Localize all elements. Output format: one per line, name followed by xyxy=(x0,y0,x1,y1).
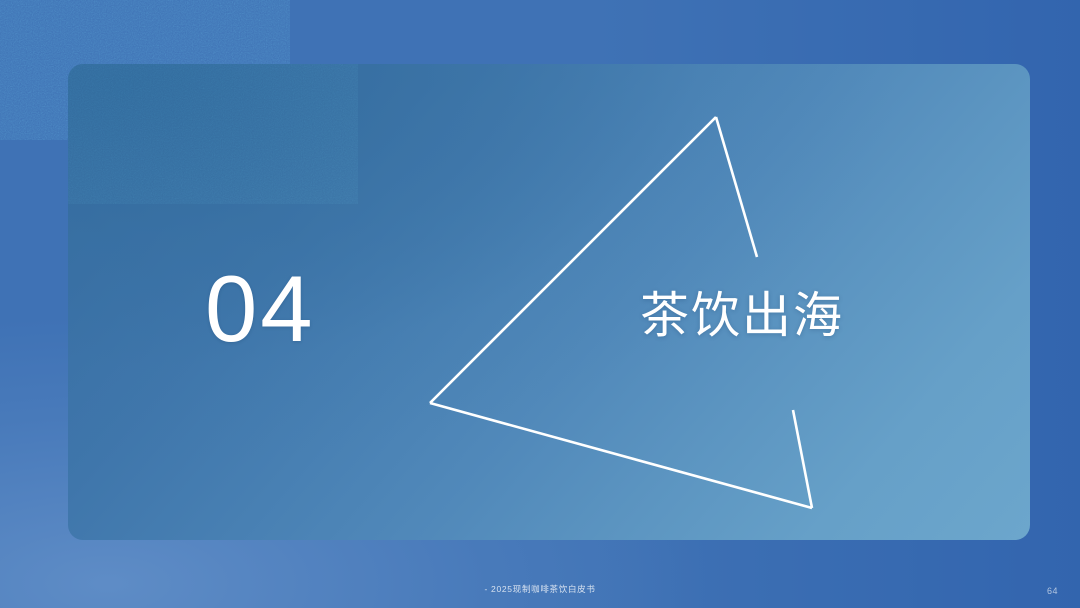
page-number: 64 xyxy=(1047,586,1058,596)
presentation-slide: 04 茶饮出海 - 2025现制咖啡茶饮白皮书 64 xyxy=(0,0,1080,608)
footer-source-note: - 2025现制咖啡茶饮白皮书 xyxy=(0,583,1080,595)
section-title: 茶饮出海 xyxy=(640,290,844,343)
panel-noise-texture xyxy=(68,64,358,204)
section-number: 04 xyxy=(205,262,405,356)
